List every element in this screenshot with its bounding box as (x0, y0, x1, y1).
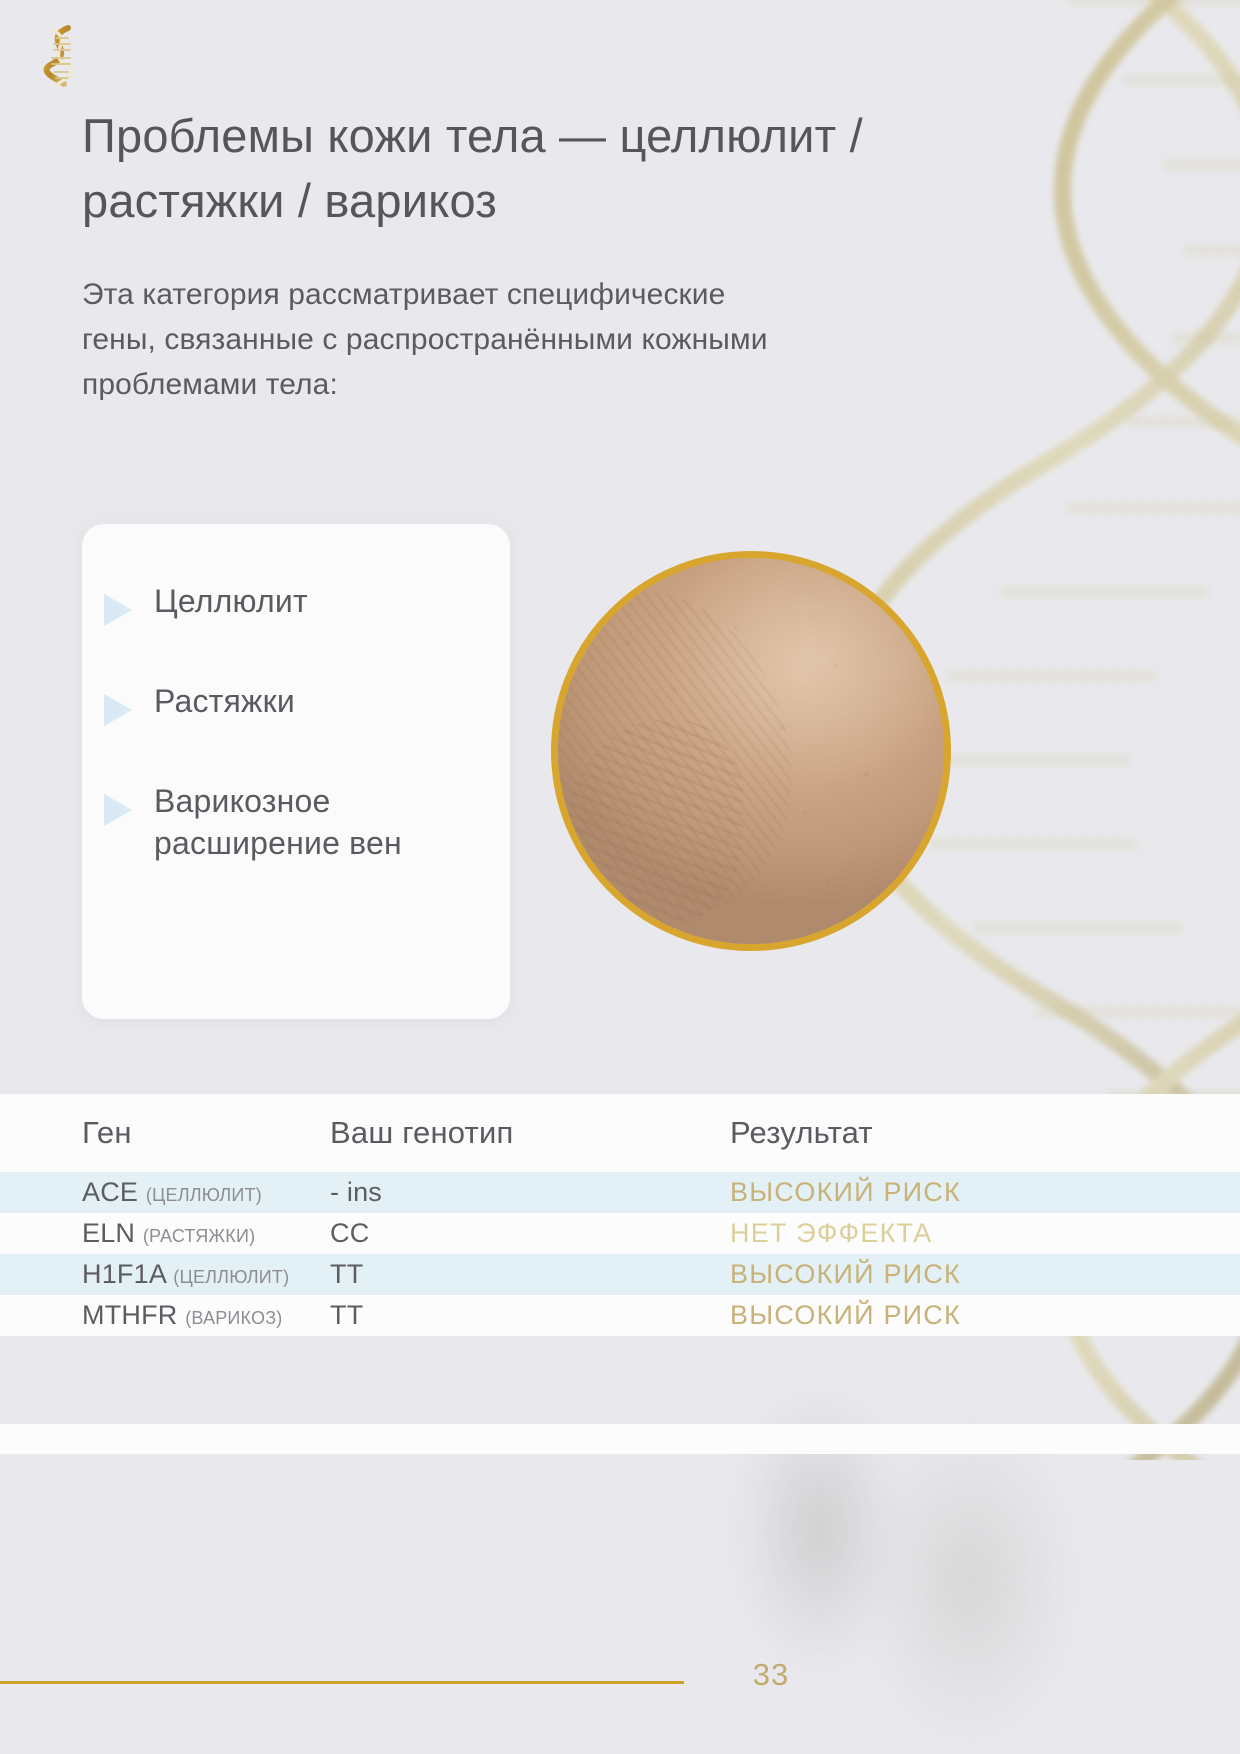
dna-helix-logo (30, 22, 90, 88)
cell-gene: ELN (РАСТЯЖКИ) (0, 1213, 330, 1254)
gene-name: ELN (82, 1218, 135, 1248)
gene-note: (ЦЕЛЛЮЛИТ) (146, 1185, 262, 1205)
column-header-genotype: Ваш генотип (330, 1094, 730, 1172)
column-header-result: Результат (730, 1094, 1240, 1172)
cell-gene: H1F1A (ЦЕЛЛЮЛИТ) (0, 1254, 330, 1295)
gene-name: ACE (82, 1177, 138, 1207)
table-header-row: Ген Ваш генотип Результат (0, 1094, 1240, 1172)
cell-gene: ACE (ЦЕЛЛЮЛИТ) (0, 1172, 330, 1213)
gene-name: MTHFR (82, 1300, 177, 1330)
status-badge: ВЫСОКИЙ РИСК (730, 1300, 961, 1330)
cell-genotype: TT (330, 1295, 730, 1336)
status-badge: НЕТ ЭФФЕКТА (730, 1218, 933, 1248)
cell-gene: MTHFR (ВАРИКОЗ) (0, 1295, 330, 1336)
cell-result: НЕТ ЭФФЕКТА (730, 1213, 1240, 1254)
list-item-label: Растяжки (154, 680, 295, 722)
intro-paragraph: Эта категория рассматривает специфически… (82, 272, 802, 407)
status-badge: ВЫСОКИЙ РИСК (730, 1177, 961, 1207)
gene-note: (ЦЕЛЛЮЛИТ) (173, 1267, 289, 1287)
triangle-bullet-icon (104, 594, 132, 626)
table-row: MTHFR (ВАРИКОЗ) TT ВЫСОКИЙ РИСК (0, 1295, 1240, 1336)
cell-result: ВЫСОКИЙ РИСК (730, 1254, 1240, 1295)
list-item: Варикозное расширение вен (104, 780, 492, 864)
status-badge: ВЫСОКИЙ РИСК (730, 1259, 961, 1289)
table-row: H1F1A (ЦЕЛЛЮЛИТ) TT ВЫСОКИЙ РИСК (0, 1254, 1240, 1295)
gene-note: (ВАРИКОЗ) (185, 1308, 282, 1328)
footer-rule (0, 1681, 684, 1684)
skin-highlight-layer (558, 558, 944, 944)
triangle-bullet-icon (104, 794, 132, 826)
cell-genotype: TT (330, 1254, 730, 1295)
gene-note: (РАСТЯЖКИ) (143, 1226, 255, 1246)
cell-genotype: - ins (330, 1172, 730, 1213)
cell-result: ВЫСОКИЙ РИСК (730, 1295, 1240, 1336)
list-item: Растяжки (104, 680, 492, 726)
dna-shadow-decoration (640, 1330, 1160, 1754)
column-header-gene: Ген (0, 1094, 330, 1172)
gene-name: H1F1A (82, 1259, 166, 1289)
cellulite-skin-photo (551, 551, 951, 951)
report-page: Проблемы кожи тела — целлюлит / растяжки… (0, 0, 1240, 1754)
conditions-list: Целлюлит Растяжки Варикозное расширение … (104, 580, 492, 864)
list-item-label: Варикозное расширение вен (154, 780, 492, 864)
genotype-results-table: Ген Ваш генотип Результат ACE (ЦЕЛЛЮЛИТ)… (0, 1094, 1240, 1347)
cell-genotype: CC (330, 1213, 730, 1254)
table-bottom-strip (0, 1424, 1240, 1454)
cell-result: ВЫСОКИЙ РИСК (730, 1172, 1240, 1213)
list-item-label: Целлюлит (154, 580, 308, 622)
table-row: ELN (РАСТЯЖКИ) CC НЕТ ЭФФЕКТА (0, 1213, 1240, 1254)
conditions-card: Целлюлит Растяжки Варикозное расширение … (82, 524, 510, 1019)
table-row: ACE (ЦЕЛЛЮЛИТ) - ins ВЫСОКИЙ РИСК (0, 1172, 1240, 1213)
list-item: Целлюлит (104, 580, 492, 626)
page-number: 33 (726, 1657, 816, 1693)
triangle-bullet-icon (104, 694, 132, 726)
page-title: Проблемы кожи тела — целлюлит / растяжки… (82, 104, 962, 234)
